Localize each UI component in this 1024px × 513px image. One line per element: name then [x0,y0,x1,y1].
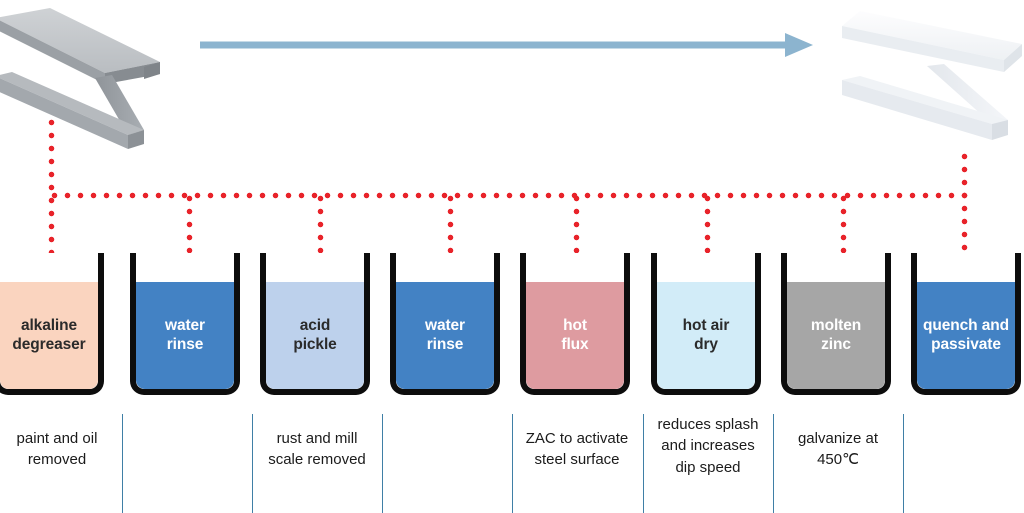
caption-alkaline-degreaser: paint and oil removed [0,428,122,471]
tank-molten-zinc[interactable]: molten zinc [781,253,891,395]
tank-label-line2: degreaser [12,336,85,355]
caption-hot-flux: ZAC to activate steel surface [512,428,642,471]
caption-line: galvanize at [773,428,903,449]
tank-label-line2: rinse [425,336,465,355]
caption-divider [382,414,383,513]
tank-label: hot flux [559,317,590,355]
galvanizing-process-diagram: alkaline degreaser water rinse acid pick… [0,0,1024,513]
tank-label-line1: alkaline [12,317,85,336]
tank-label-line1: hot air [683,317,730,336]
tank-label-line2: dry [683,336,730,355]
caption-line: reduces splash [643,414,773,435]
route-drop-tank-4 [447,192,454,260]
tank-liquid: alkaline degreaser [0,282,98,389]
tank-quench-and-passivate[interactable]: quench and passivate [911,253,1021,395]
process-flow-arrow [200,30,815,60]
tank-label-line1: water [165,317,205,336]
caption-line: dip speed [643,457,773,478]
tank-acid-pickle[interactable]: acid pickle [260,253,370,395]
tank-label: acid pickle [291,317,338,355]
tank-label: hot air dry [681,317,732,355]
tank-label-line1: hot [561,317,588,336]
tank-label: water rinse [423,317,467,355]
route-drop-left [48,116,55,259]
tank-water-rinse-2[interactable]: water rinse [390,253,500,395]
caption-line: 450℃ [773,449,903,470]
caption-acid-pickle: rust and mill scale removed [252,428,382,471]
galvanized-steel-beam [832,4,1024,164]
tank-label-line1: molten [811,317,861,336]
route-drop-tank-7 [840,192,847,260]
route-drop-tank-2 [186,192,193,260]
caption-line: rust and mill [252,428,382,449]
tank-liquid: acid pickle [266,282,364,389]
tank-liquid: molten zinc [787,282,885,389]
tank-label: alkaline degreaser [10,317,87,355]
caption-hot-air-dry: reduces splash and increases dip speed [643,414,773,478]
tank-hot-flux[interactable]: hot flux [520,253,630,395]
route-drop-tank-5 [573,192,580,260]
caption-divider [122,414,123,513]
tank-alkaline-degreaser[interactable]: alkaline degreaser [0,253,104,395]
tank-label-line2: pickle [293,336,336,355]
caption-line: steel surface [512,449,642,470]
tank-liquid: water rinse [396,282,494,389]
caption-line: and increases [643,435,773,456]
tank-liquid: quench and passivate [917,282,1015,389]
caption-divider [903,414,904,513]
caption-line: removed [0,449,122,470]
caption-line: paint and oil [0,428,122,449]
route-drop-right [961,150,968,260]
caption-line: scale removed [252,449,382,470]
tank-liquid: water rinse [136,282,234,389]
tank-label-line1: acid [293,317,336,336]
tank-label-line1: water [425,317,465,336]
caption-molten-zinc: galvanize at 450℃ [773,428,903,471]
caption-line: ZAC to activate [512,428,642,449]
raw-steel-beam [0,6,192,168]
tank-hot-air-dry[interactable]: hot air dry [651,253,761,395]
route-drop-tank-6 [704,192,711,260]
tank-liquid: hot air dry [657,282,755,389]
tank-label-line2: rinse [165,336,205,355]
tank-label-line2: flux [561,336,588,355]
route-drop-tank-3 [317,192,324,260]
tank-label-line2: zinc [811,336,861,355]
tank-label-line2: passivate [923,336,1009,355]
tank-water-rinse-1[interactable]: water rinse [130,253,240,395]
tank-label-line1: quench and [923,317,1009,336]
tank-label: quench and passivate [921,317,1011,355]
tank-liquid: hot flux [526,282,624,389]
tank-label: water rinse [163,317,207,355]
tank-label: molten zinc [809,317,863,355]
